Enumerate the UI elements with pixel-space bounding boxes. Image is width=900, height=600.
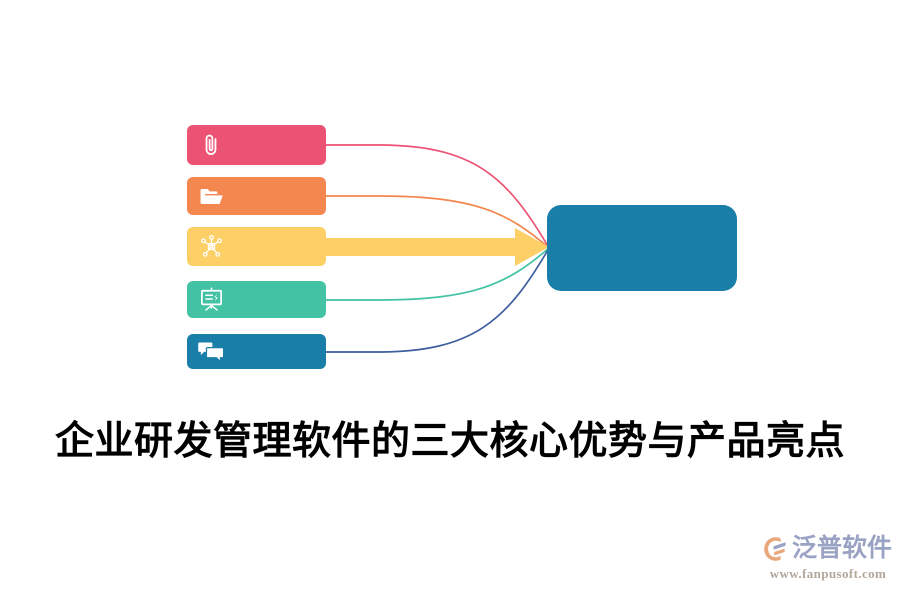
watermark-url-text: www.fanpusoft.com xyxy=(762,566,894,582)
feature-bar-label xyxy=(235,177,318,215)
page-title: 企业研发管理软件的三大核心优势与产品亮点 xyxy=(0,418,900,466)
feature-bar[interactable] xyxy=(187,125,326,165)
feature-bar-label xyxy=(235,281,318,318)
feature-bar[interactable] xyxy=(187,334,326,369)
watermark-brand-text: 泛普软件 xyxy=(792,535,892,563)
feature-bar-label xyxy=(235,227,318,266)
watermark-brand-row: 泛普软件 xyxy=(762,533,894,565)
presentation-board-icon xyxy=(196,285,226,315)
hub-box[interactable] xyxy=(547,205,737,291)
folder-open-icon xyxy=(196,181,226,211)
feature-bar-label xyxy=(235,125,318,165)
feature-bar[interactable] xyxy=(187,227,326,266)
feature-bar-label xyxy=(235,334,318,369)
comments-icon xyxy=(196,337,226,367)
watermark: 泛普软件 www.fanpusoft.com xyxy=(762,533,894,585)
fanpu-swoosh-logo-icon xyxy=(762,535,790,563)
connector-diagram xyxy=(0,0,900,600)
paperclip-icon xyxy=(196,130,226,160)
slide-canvas: 企业研发管理软件的三大核心优势与产品亮点 泛普软件 www.fanpusoft.… xyxy=(0,0,900,600)
network-hub-icon xyxy=(196,232,226,262)
feature-bar[interactable] xyxy=(187,177,326,215)
feature-bar[interactable] xyxy=(187,281,326,318)
